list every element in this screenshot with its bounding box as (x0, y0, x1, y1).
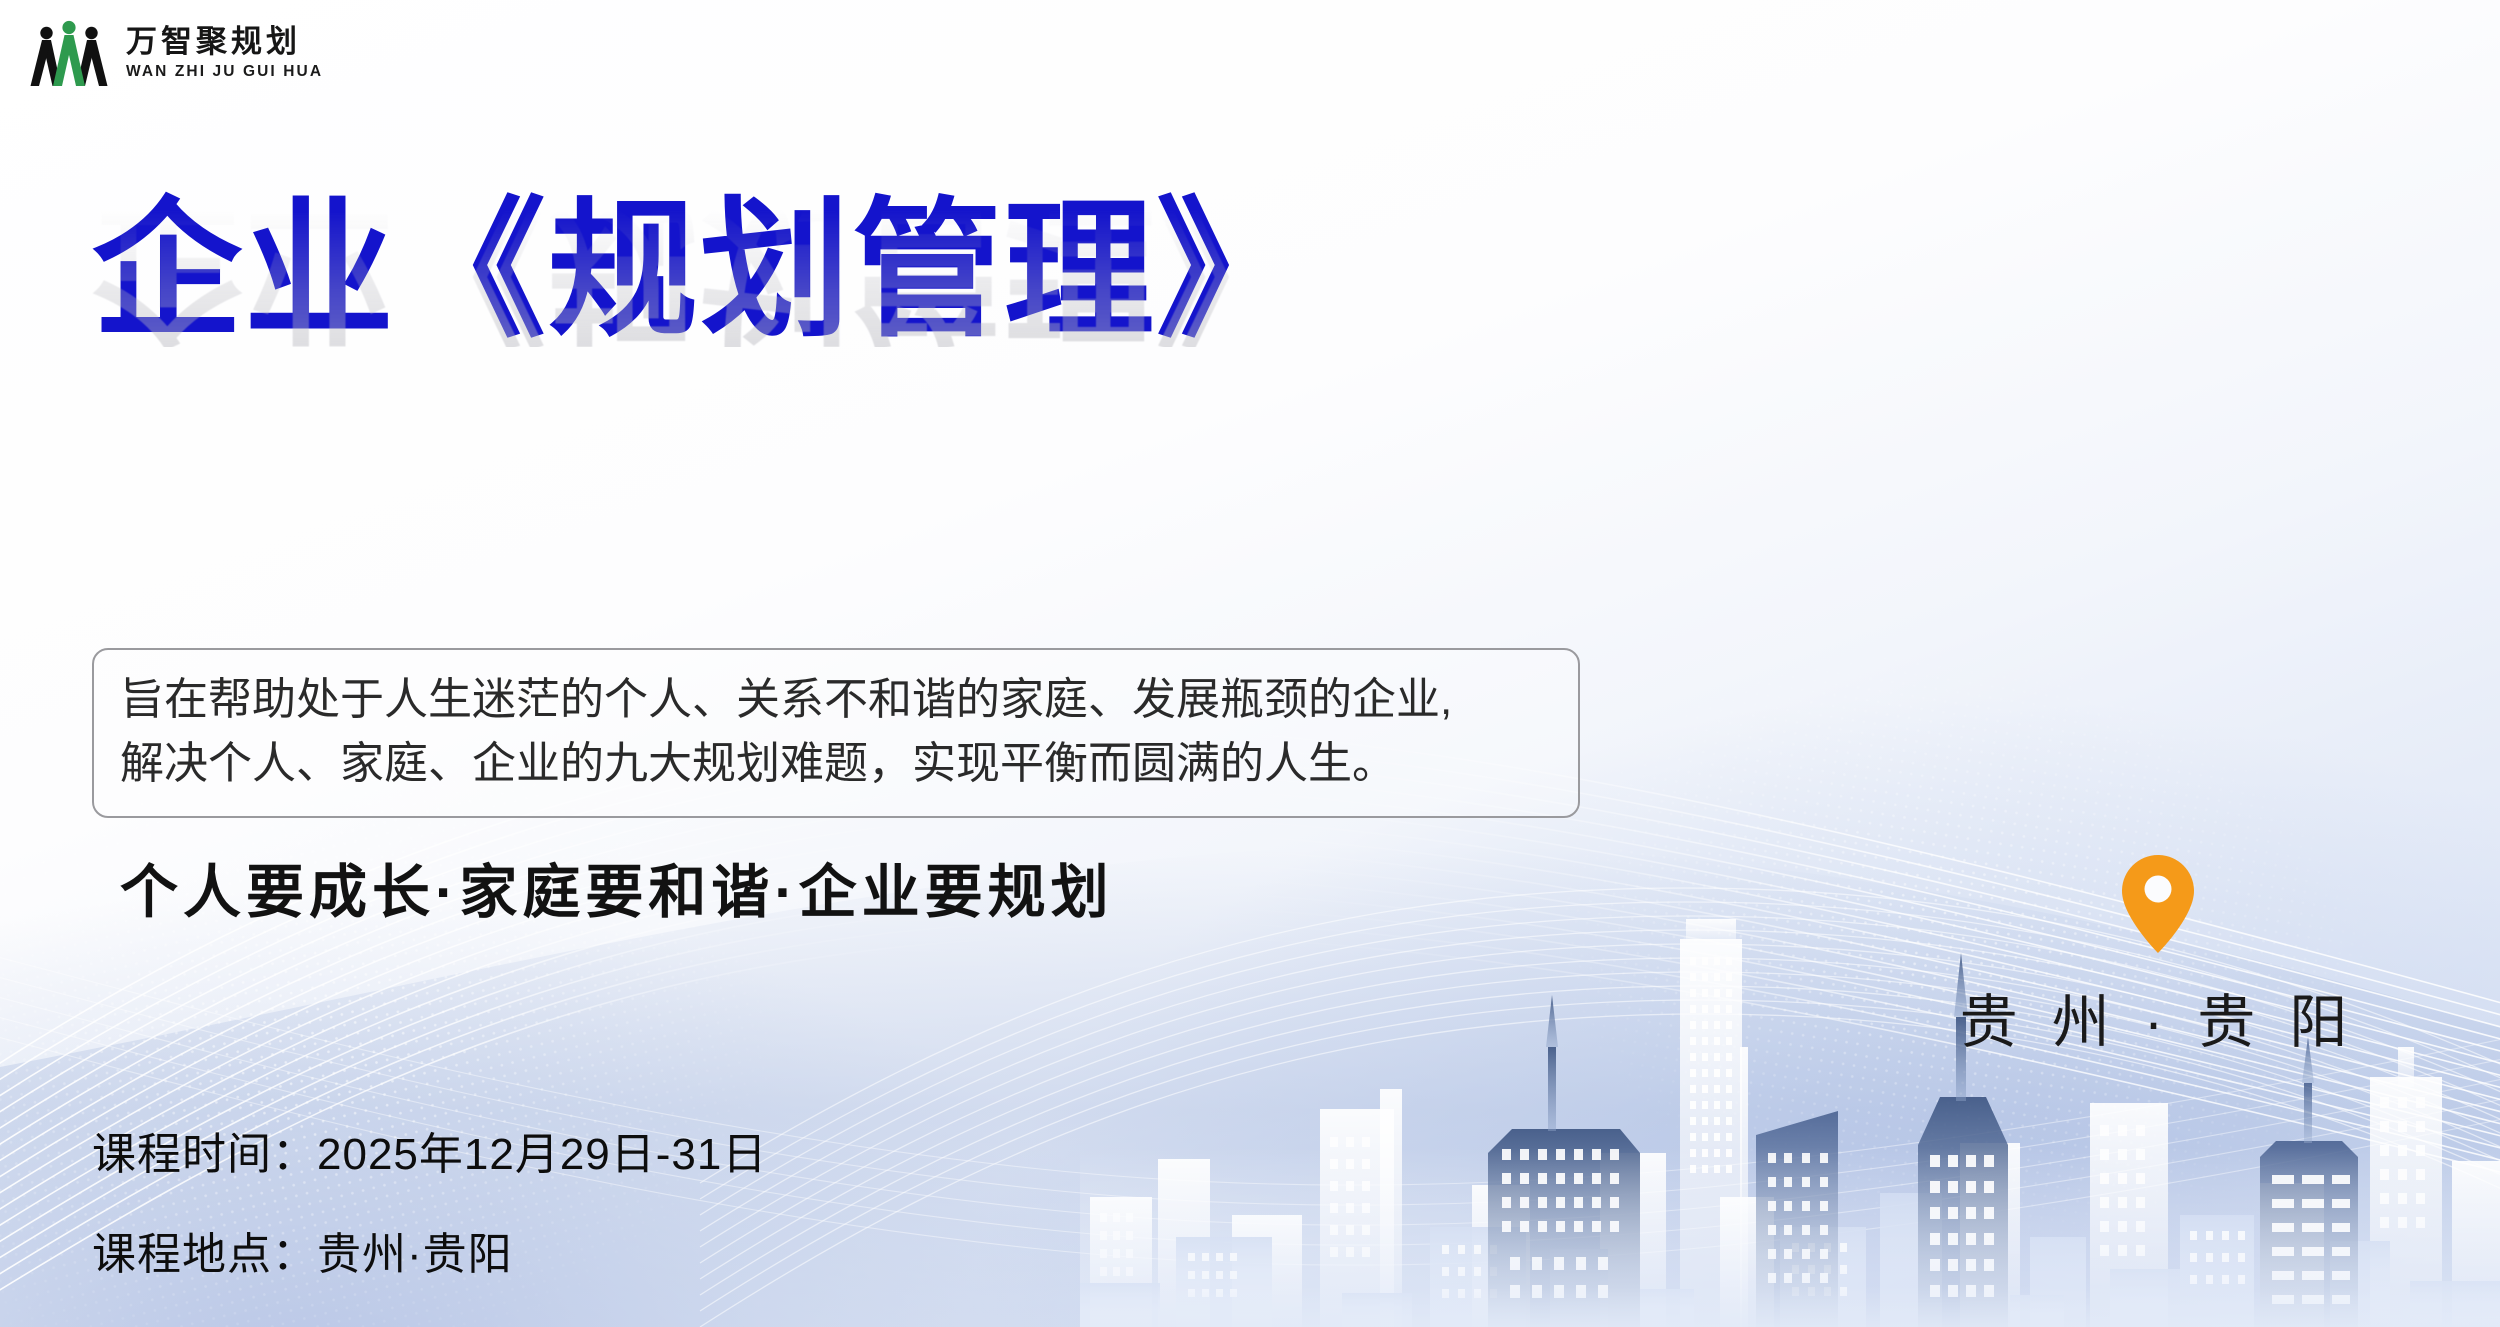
description-box: 旨在帮助处于人生迷茫的个人、关系不和谐的家庭、发展瓶颈的企业, 解决个人、家庭、… (92, 648, 1580, 818)
course-place: 课程地点：贵州·贵阳 (92, 1218, 767, 1282)
brand-logo-text: 万智聚规划 WAN ZHI JU GUI HUA (126, 26, 323, 80)
map-pin-icon (2122, 855, 2194, 953)
course-time: 课程时间：2025年12月29日-31日 (92, 1118, 767, 1182)
three-people-logo-icon (30, 18, 108, 88)
promo-banner: 万智聚规划 WAN ZHI JU GUI HUA 企业《规划管理》 企业《规划管… (0, 0, 2500, 1327)
description-line-1: 旨在帮助处于人生迷茫的个人、关系不和谐的家庭、发展瓶颈的企业, (120, 668, 1552, 732)
page-title-reflection: 企业《规划管理》 (92, 197, 1652, 347)
hero-title-block: 企业《规划管理》 企业《规划管理》 (92, 195, 1652, 525)
description-line-2: 解决个人、家庭、企业的九大规划难题，实现平衡而圆满的人生。 (120, 732, 1552, 796)
tagline: 个人要成长·家庭要和谐·企业要规划 (120, 845, 1114, 929)
location-block: 贵 州 · 贵 阳 (1948, 855, 2368, 1059)
location-city-label: 贵 州 · 贵 阳 (1948, 975, 2368, 1059)
brand-logo[interactable]: 万智聚规划 WAN ZHI JU GUI HUA (30, 18, 323, 88)
brand-name-cn: 万智聚规划 (126, 26, 323, 57)
brand-name-pinyin: WAN ZHI JU GUI HUA (126, 64, 323, 80)
course-info: 课程时间：2025年12月29日-31日 课程地点：贵州·贵阳 (92, 1118, 767, 1282)
